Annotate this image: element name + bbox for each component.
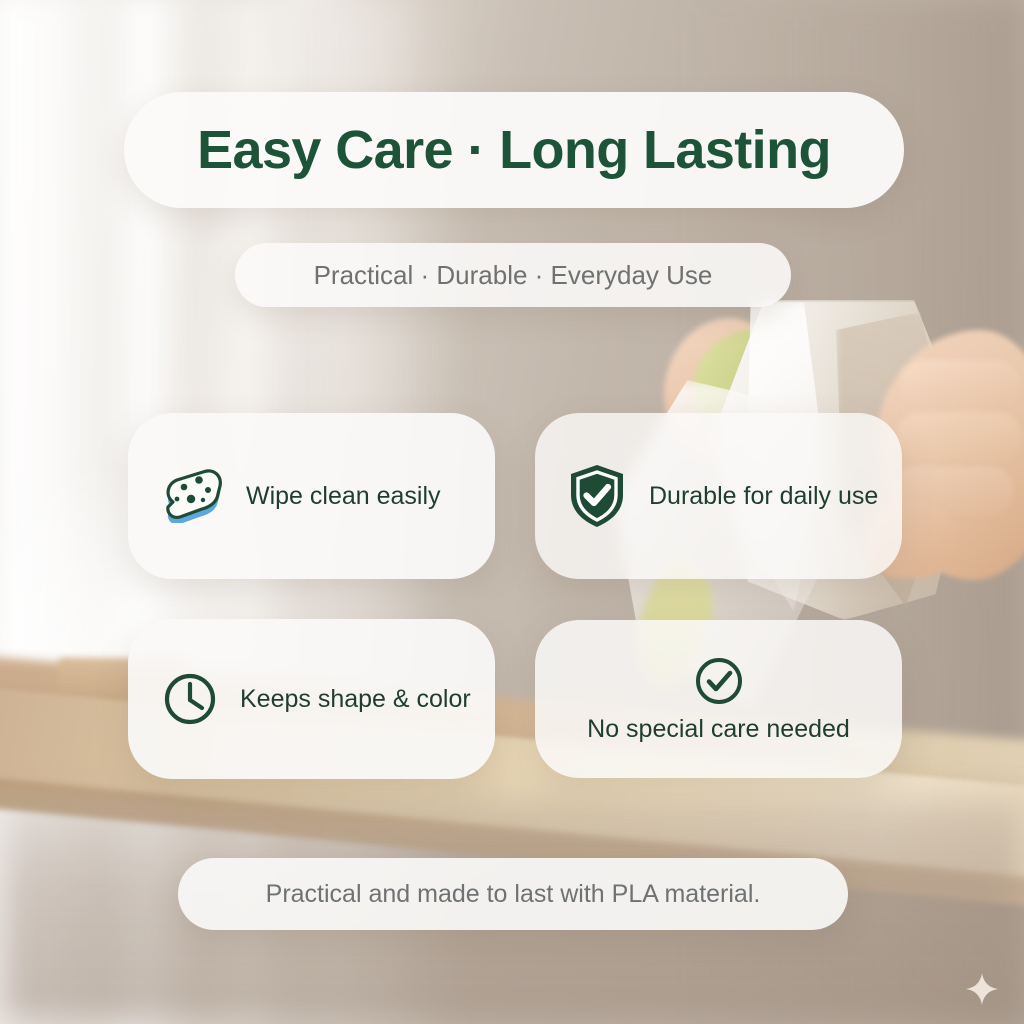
footer-pill: Practical and made to last with PLA mate… <box>178 858 848 930</box>
subtitle-pill: Practical · Durable · Everyday Use <box>235 243 791 307</box>
shield-check-icon <box>567 463 627 529</box>
check-circle-icon <box>693 655 745 707</box>
feature-card-durable[interactable]: Durable for daily use <box>535 413 902 579</box>
page-subtitle: Practical · Durable · Everyday Use <box>314 260 713 291</box>
title-pill: Easy Care · Long Lasting <box>124 92 904 208</box>
feature-label: Wipe clean easily <box>246 482 441 511</box>
finger <box>896 412 1022 462</box>
feature-card-wipe-clean[interactable]: Wipe clean easily <box>128 413 495 579</box>
footer-text: Practical and made to last with PLA mate… <box>266 880 761 909</box>
sponge-icon <box>162 469 224 523</box>
feature-label: No special care needed <box>587 715 850 744</box>
feature-label: Keeps shape & color <box>240 685 471 714</box>
page-title: Easy Care · Long Lasting <box>197 119 831 181</box>
promo-graphic: Easy Care · Long Lasting Practical · Dur… <box>0 0 1024 1024</box>
sparkle-icon <box>965 972 999 1006</box>
finger <box>900 360 1020 408</box>
feature-card-no-special-care[interactable]: No special care needed <box>535 620 902 778</box>
feature-card-keeps-shape[interactable]: Keeps shape & color <box>128 619 495 779</box>
clock-icon <box>162 671 218 727</box>
feature-label: Durable for daily use <box>649 482 878 511</box>
